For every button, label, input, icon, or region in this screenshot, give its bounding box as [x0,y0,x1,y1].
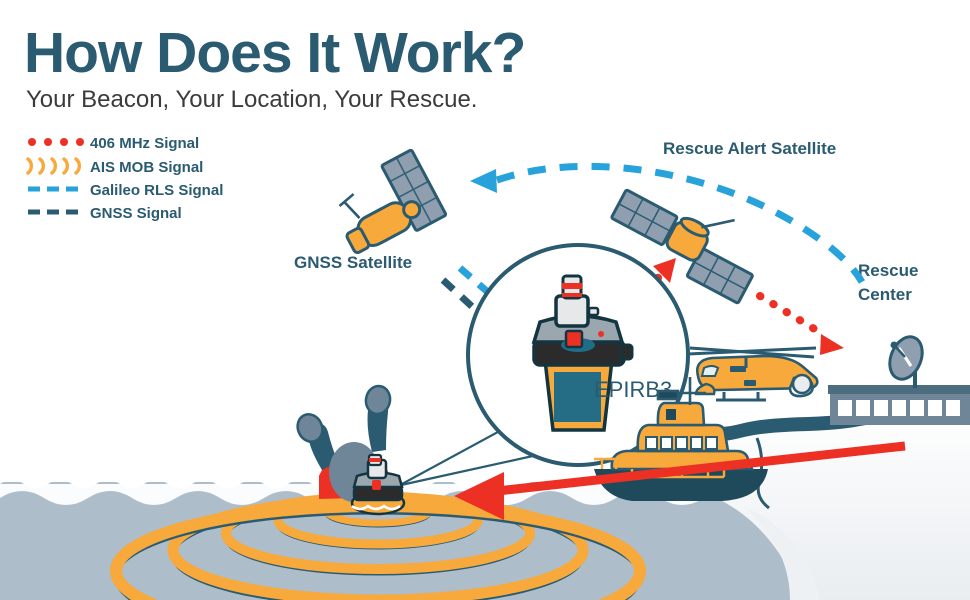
gnss-satellite-label: GNSS Satellite [294,253,412,272]
rescue-alert-satellite-label: Rescue Alert Satellite [663,139,836,158]
legend-label-ais-mob: AIS MOB Signal [90,159,203,176]
rescue-center-label-line2: Center [858,285,912,304]
legend-label-galileo: Galileo RLS Signal [90,182,223,199]
legend-label-gnss: GNSS Signal [90,205,182,222]
legend-label-406mhz: 406 MHz Signal [90,135,199,152]
page-title: How Does It Work? [24,21,525,85]
infographic-canvas: GNSS Satellite Rescue Alert Satellite Re… [0,0,970,600]
rescue-center-label-line1: Rescue [858,261,918,280]
page-subtitle: Your Beacon, Your Location, Your Rescue. [26,86,477,113]
